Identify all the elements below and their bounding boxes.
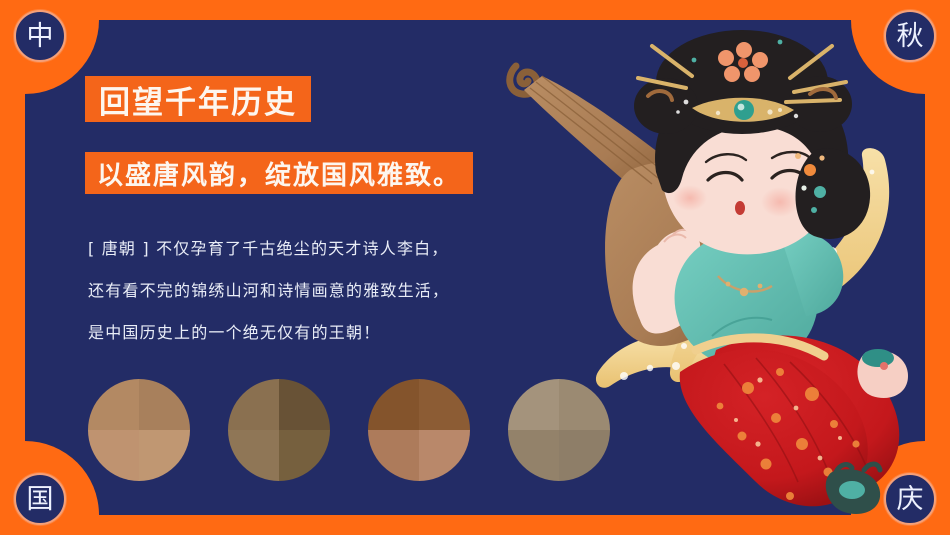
body-line-1: [ 唐朝 ] 不仅孕育了千古绝尘的天才诗人李白， [88,228,558,270]
color-swatch-1 [88,379,190,481]
slide-root: 回望千年历史 以盛唐风韵，绽放国风雅致。 [ 唐朝 ] 不仅孕育了千古绝尘的天才… [0,0,950,535]
seal-badge-bottom-left: 国 [14,473,66,525]
swatch-3-quadrant-bottom-left [368,430,419,481]
seal-badge-top-left: 中 [14,10,66,62]
swatch-4-quadrant-bottom-right [559,430,610,481]
swatch-1-quadrant-top-left [88,379,139,430]
swatch-2-quadrant-top-left [228,379,279,430]
color-swatch-4 [508,379,610,481]
seal-badge-top-right: 秋 [884,10,936,62]
swatch-2-quadrant-bottom-right [279,430,330,481]
swatch-3-quadrant-top-right [419,379,470,430]
swatch-1-quadrant-bottom-left [88,430,139,481]
color-swatch-2 [228,379,330,481]
swatch-1-quadrant-bottom-right [139,430,190,481]
swatch-3-quadrant-bottom-right [419,430,470,481]
palette-swatch-row [88,379,610,481]
swatch-4-quadrant-top-left [508,379,559,430]
headline-primary: 回望千年历史 [85,76,311,122]
body-line-3: 是中国历史上的一个绝无仅有的王朝！ [88,312,558,354]
swatch-4-quadrant-top-right [559,379,610,430]
swatch-2-quadrant-bottom-left [228,430,279,481]
swatch-3-quadrant-top-left [368,379,419,430]
headline-secondary: 以盛唐风韵，绽放国风雅致。 [85,152,473,194]
color-swatch-3 [368,379,470,481]
seal-badge-bottom-right: 庆 [884,473,936,525]
swatch-4-quadrant-bottom-left [508,430,559,481]
body-line-2: 还有看不完的锦绣山河和诗情画意的雅致生活， [88,270,558,312]
swatch-1-quadrant-top-right [139,379,190,430]
swatch-2-quadrant-top-right [279,379,330,430]
body-paragraph: [ 唐朝 ] 不仅孕育了千古绝尘的天才诗人李白， 还有看不完的锦绣山河和诗情画意… [88,228,558,354]
